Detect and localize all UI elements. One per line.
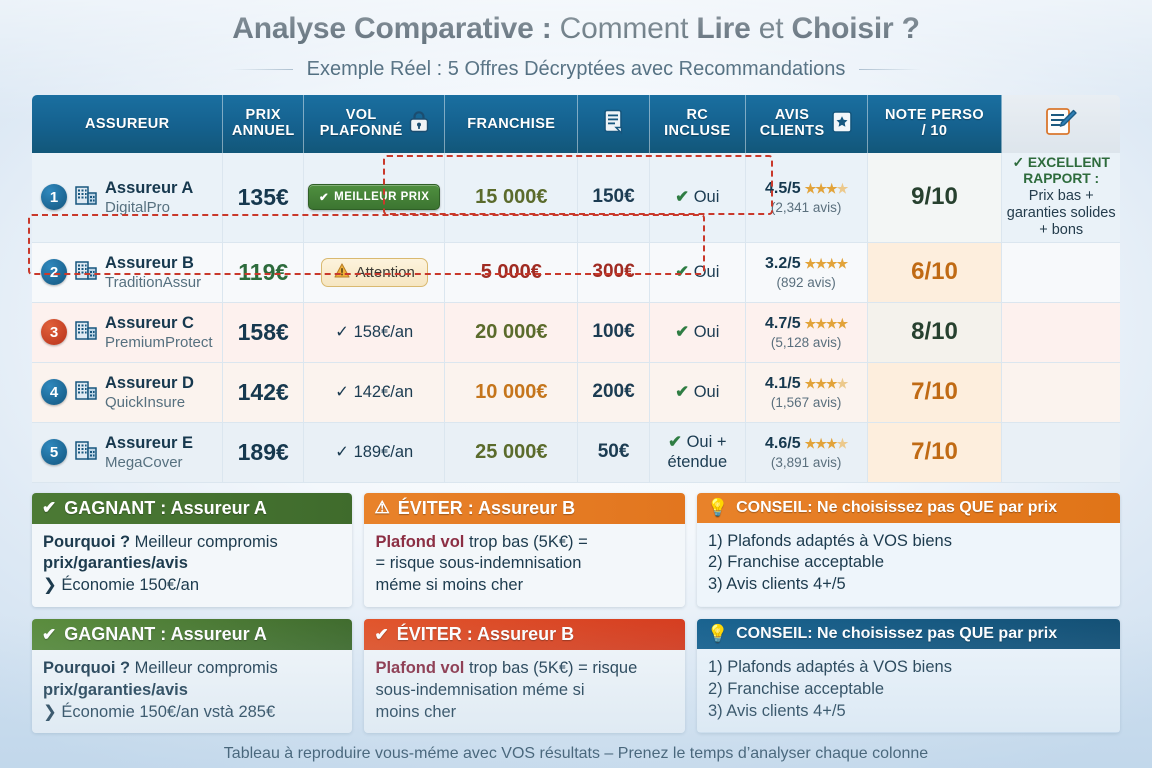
cell-doc: 150€ <box>578 153 650 243</box>
avis-score: 4.5/5 <box>765 180 801 198</box>
insurer-brand: DigitalPro <box>105 199 170 216</box>
card-list-item: 3) Avis clients 4+/5 <box>708 701 1109 723</box>
col-header-rc[interactable]: RCINCLUSE <box>650 95 746 153</box>
card-line1-rest: Meilleur compromis <box>130 533 278 551</box>
col-label-avis-1: AVIS <box>760 108 825 124</box>
building-icon <box>74 318 98 347</box>
title-bold-choisir: Choisir ? <box>792 12 920 45</box>
cell-doc: 200€ <box>578 363 650 423</box>
cell-note: 9/10 <box>868 153 1003 243</box>
recommendation-cards-row-1: ✔ GAGNANT : Assureur A Pourquoi ? Meille… <box>32 493 1120 607</box>
building-icon <box>74 183 98 212</box>
card-title: CONSEIL: Ne choisissez pas QUE par prix <box>736 625 1057 643</box>
card-line1-bold: Plafond vol <box>375 659 464 677</box>
cell-perso-note[interactable]: ✓ EXCELLENT RAPPORT : Prix bas + garanti… <box>1002 153 1120 243</box>
card-line1-bold: Pourquoi ? <box>43 659 130 677</box>
cell-franchise: 20 000€ <box>445 303 578 363</box>
check-icon: ✔ <box>675 383 689 401</box>
card-line2: sous-indemnisation méme si <box>375 680 673 702</box>
avis-score: 3.2/5 <box>765 255 801 273</box>
price-value: 135€ <box>238 184 289 210</box>
check-icon: ✔ <box>42 625 56 645</box>
cell-franchise: 15 000€ <box>445 153 578 243</box>
page-title: Analyse Comparative : Comment Lire et Ch… <box>0 12 1152 46</box>
title-part-1: Analyse Comparative <box>232 12 533 45</box>
building-icon <box>74 378 98 407</box>
bulb-icon: 💡 <box>707 624 728 644</box>
note-value: 7/10 <box>911 438 958 465</box>
cell-doc: 300€ <box>578 243 650 303</box>
card-line1-rest: trop bas (5K€) = <box>464 533 587 551</box>
card-gagnant-1[interactable]: ✔ GAGNANT : Assureur A Pourquoi ? Meille… <box>32 493 352 607</box>
note-value: 6/10 <box>911 258 958 285</box>
footer-note: Tableau à reproduire vous-méme avec VOS … <box>0 745 1152 763</box>
cell-perso-note[interactable] <box>1002 243 1120 303</box>
building-icon <box>74 438 98 467</box>
col-header-note-perso[interactable]: NOTE PERSO/ 10 <box>868 95 1003 153</box>
vol-value: ✓ 189€/an <box>335 443 413 461</box>
cell-rc: ✔ Oui <box>650 363 746 423</box>
col-label-assureur: ASSUREUR <box>85 116 170 132</box>
col-label-avis-2: CLIENTS <box>760 124 825 140</box>
title-mid: et <box>751 12 792 45</box>
doc-value: 150€ <box>592 186 634 207</box>
cell-avis: 4.5/5★★★★ (2,341 avis) <box>746 153 868 243</box>
rc-value: ✔ Oui <box>675 188 719 206</box>
col-label-rc-1: RC <box>652 108 743 124</box>
table-header-row: ASSUREUR PRIXANNUEL VOLPLAFONNÉ FRANCHIS… <box>32 95 1120 153</box>
cell-franchise: 5 000€ <box>445 243 578 303</box>
insurer-brand: TraditionAssur <box>105 274 201 291</box>
franchise-value: 25 000€ <box>475 441 547 463</box>
best-price-label: MEILLEUR PRIX <box>334 191 429 203</box>
price-value: 158€ <box>238 319 289 345</box>
building-icon <box>74 258 98 287</box>
card-line2: = risque sous-indemnisation <box>375 553 673 575</box>
card-line3: ❯ Économie 150€/an <box>43 575 341 597</box>
cell-vol: ✓ 142€/an <box>304 363 445 423</box>
col-label-prix-2: ANNUEL <box>225 124 301 140</box>
title-colon: : <box>534 12 560 45</box>
stars-icon: ★★★★ <box>805 316 848 332</box>
rank-badge: 5 <box>41 439 67 465</box>
best-price-badge: ✔MEILLEUR PRIX <box>308 184 440 210</box>
check-icon: ✔ <box>42 498 56 518</box>
table-row[interactable]: 5 Assureur E MegaCover 189€ ✓ 189€/an 25… <box>32 423 1120 483</box>
title-part-2: Comment <box>560 12 697 45</box>
warning-icon: ⚠ <box>374 498 389 518</box>
cell-vol: ✔MEILLEUR PRIX <box>304 153 445 243</box>
cell-price: 135€ <box>223 153 304 243</box>
subtitle-wrap: Exemple Réel : 5 Offres Décryptées avec … <box>0 58 1152 81</box>
col-header-edit[interactable] <box>1002 95 1120 153</box>
check-icon: ✔ <box>374 625 388 645</box>
stars-icon: ★★★★ <box>805 436 848 452</box>
vol-value: ✓ 142€/an <box>335 383 413 401</box>
cell-vol: Attention <box>304 243 445 303</box>
rank-badge: 2 <box>41 259 67 285</box>
card-list-item: 3) Avis clients 4+/5 <box>708 574 1109 596</box>
note-value: 9/10 <box>911 183 958 210</box>
cell-price: 119€ <box>223 243 304 303</box>
card-header: ✔ GAGNANT : Assureur A <box>32 619 352 650</box>
card-line1-rest: trop bas (5K€) = risque <box>464 659 637 677</box>
col-label-note-1: NOTE PERSO <box>870 108 1000 124</box>
check-icon: ✔ <box>675 323 689 341</box>
cell-price: 142€ <box>223 363 304 423</box>
cell-assureur: 3 Assureur C PremiumProtect <box>32 303 223 363</box>
card-header: ⚠ ÉVITER : Assureur B <box>364 493 684 524</box>
cell-assureur: 2 Assureur B TraditionAssur <box>32 243 223 303</box>
cell-avis: 4.1/5★★★★ (1,567 avis) <box>746 363 868 423</box>
avis-count: (1,567 avis) <box>749 395 864 410</box>
col-header-document[interactable] <box>578 95 650 153</box>
avis-score: 4.6/5 <box>765 435 801 453</box>
cell-assureur: 1 Assureur A DigitalPro <box>32 153 223 243</box>
cell-doc: 100€ <box>578 303 650 363</box>
table-row[interactable]: 1 Assureur A DigitalPro 135€ ✔MEILLEUR P… <box>32 153 1120 243</box>
cell-note: 8/10 <box>868 303 1003 363</box>
card-title: GAGNANT : Assureur A <box>64 624 267 645</box>
card-list-item: 1) Plafonds adaptés à VOS biens <box>708 531 1109 553</box>
card-gagnant-2[interactable]: ✔ GAGNANT : Assureur A Pourquoi ? Meille… <box>32 619 352 733</box>
franchise-value: 10 000€ <box>475 381 547 403</box>
card-eviter-1[interactable]: ⚠ ÉVITER : Assureur B Plafond vol trop b… <box>364 493 684 607</box>
check-icon: ✔ <box>675 188 689 206</box>
card-body: Pourquoi ? Meilleur compromis prix/garan… <box>32 650 352 733</box>
franchise-value: 20 000€ <box>475 321 547 343</box>
page-subtitle: Exemple Réel : 5 Offres Décryptées avec … <box>307 58 846 81</box>
doc-value: 100€ <box>592 321 634 342</box>
card-header: ✔ ÉVITER : Assureur B <box>364 619 684 650</box>
rank-badge: 3 <box>41 319 67 345</box>
table-row[interactable]: 4 Assureur D QuickInsure 142€ ✓ 142€/an … <box>32 363 1120 423</box>
stars-icon: ★★★★ <box>805 376 848 392</box>
perso-note-head: ✓ EXCELLENT RAPPORT : <box>1005 155 1117 188</box>
star-badge-icon <box>831 110 853 138</box>
note-value: 8/10 <box>911 318 958 345</box>
table-row[interactable]: 3 Assureur C PremiumProtect 158€ ✓ 158€/… <box>32 303 1120 363</box>
card-header: ✔ GAGNANT : Assureur A <box>32 493 352 524</box>
document-icon <box>603 123 625 139</box>
franchise-value: 15 000€ <box>475 186 547 208</box>
cell-assureur: 4 Assureur D QuickInsure <box>32 363 223 423</box>
insurer-brand: PremiumProtect <box>105 334 213 351</box>
subtitle-rule-right <box>859 69 921 70</box>
note-value: 7/10 <box>911 378 958 405</box>
insurer-name: Assureur A <box>105 179 193 197</box>
avis-score: 4.1/5 <box>765 375 801 393</box>
card-body: Plafond vol trop bas (5K€) = risque sous… <box>364 650 684 733</box>
rc-value: ✔ Oui <box>675 263 719 281</box>
cell-rc: ✔ Oui <box>650 243 746 303</box>
col-header-vol[interactable]: VOLPLAFONNÉ <box>304 95 445 153</box>
card-line3: ❯ Économie 150€/an vstà 285€ <box>43 702 341 724</box>
recommendation-cards-row-2: ✔ GAGNANT : Assureur A Pourquoi ? Meille… <box>32 619 1120 733</box>
insurer-name: Assureur D <box>105 374 194 392</box>
cell-perso-note[interactable] <box>1002 363 1120 423</box>
page-header: Analyse Comparative : Comment Lire et Ch… <box>0 0 1152 81</box>
insurer-name: Assureur C <box>105 314 194 332</box>
insurer-name: Assureur B <box>105 254 194 272</box>
rc-value: ✔ Oui + étendue <box>667 433 727 471</box>
cell-price: 158€ <box>223 303 304 363</box>
cell-doc: 50€ <box>578 423 650 483</box>
col-header-assureur[interactable]: ASSUREUR <box>32 95 223 153</box>
card-list-item: 2) Franchise acceptable <box>708 679 1109 701</box>
attention-label: Attention <box>356 264 415 281</box>
col-label-prix-1: PRIX <box>225 108 301 124</box>
card-header: 💡 CONSEIL: Ne choisissez pas QUE par pri… <box>697 619 1120 649</box>
perso-note-body: Prix bas + garanties solides + bons <box>1005 188 1117 240</box>
col-label-vol-2: PLAFONNÉ <box>320 124 403 140</box>
card-header: 💡 CONSEIL: Ne choisissez pas QUE par pri… <box>697 493 1120 523</box>
avis-count: (2,341 avis) <box>749 200 864 215</box>
col-header-avis[interactable]: AVISCLIENTS <box>746 95 868 153</box>
table-row[interactable]: 2 Assureur B TraditionAssur 119€ Attenti… <box>32 243 1120 303</box>
attention-badge: Attention <box>321 258 428 287</box>
col-header-prix[interactable]: PRIXANNUEL <box>223 95 304 153</box>
card-title: ÉVITER : Assureur B <box>397 624 574 645</box>
cell-perso-note[interactable] <box>1002 303 1120 363</box>
check-icon: ✔ <box>675 263 689 281</box>
avis-count: (5,128 avis) <box>749 335 864 350</box>
cell-rc: ✔ Oui <box>650 153 746 243</box>
card-eviter-2[interactable]: ✔ ÉVITER : Assureur B Plafond vol trop b… <box>364 619 684 733</box>
cell-note: 7/10 <box>868 423 1003 483</box>
card-line3: méme si moins cher <box>375 575 673 597</box>
insurer-brand: MegaCover <box>105 454 183 471</box>
check-icon: ✔ <box>668 433 682 451</box>
warning-icon <box>334 263 350 282</box>
doc-value: 50€ <box>598 441 630 462</box>
avis-score: 4.7/5 <box>765 315 801 333</box>
vol-value: ✓ 158€/an <box>335 323 413 341</box>
doc-value: 300€ <box>592 261 634 282</box>
col-label-franchise: FRANCHISE <box>467 116 555 132</box>
card-line3: moins cher <box>375 702 673 724</box>
cell-vol: ✓ 158€/an <box>304 303 445 363</box>
card-title: CONSEIL: Ne choisissez pas QUE par prix <box>736 499 1057 517</box>
cell-franchise: 10 000€ <box>445 363 578 423</box>
rank-badge: 1 <box>41 184 67 210</box>
title-bold-lire: Lire <box>696 12 750 45</box>
price-value: 119€ <box>238 259 288 285</box>
comparison-table-wrap: ASSUREUR PRIXANNUEL VOLPLAFONNÉ FRANCHIS… <box>32 95 1120 483</box>
col-header-franchise[interactable]: FRANCHISE <box>445 95 578 153</box>
card-conseil-1[interactable]: 💡 CONSEIL: Ne choisissez pas QUE par pri… <box>697 493 1120 607</box>
subtitle-rule-left <box>231 69 293 70</box>
cell-rc: ✔ Oui + étendue <box>650 423 746 483</box>
card-body: 1) Plafonds adaptés à VOS biens 2) Franc… <box>697 649 1120 732</box>
stars-icon: ★★★★ <box>805 181 848 197</box>
franchise-value: 5 000€ <box>481 261 542 283</box>
card-body: Pourquoi ? Meilleur compromis prix/garan… <box>32 524 352 607</box>
cell-assureur: 5 Assureur E MegaCover <box>32 423 223 483</box>
cell-avis: 4.6/5★★★★ (3,891 avis) <box>746 423 868 483</box>
cell-note: 7/10 <box>868 363 1003 423</box>
col-label-rc-2: INCLUSE <box>652 124 743 140</box>
rank-badge: 4 <box>41 379 67 405</box>
card-list-item: 2) Franchise acceptable <box>708 552 1109 574</box>
card-line2: prix/garanties/avis <box>43 554 188 572</box>
insurer-name: Assureur E <box>105 434 193 452</box>
card-line1-bold: Pourquoi ? <box>43 533 130 551</box>
avis-count: (3,891 avis) <box>749 455 864 470</box>
avis-count: (892 avis) <box>749 275 864 290</box>
cell-price: 189€ <box>223 423 304 483</box>
card-conseil-2[interactable]: 💡 CONSEIL: Ne choisissez pas QUE par pri… <box>697 619 1120 733</box>
cell-perso-note[interactable] <box>1002 423 1120 483</box>
cell-vol: ✓ 189€/an <box>304 423 445 483</box>
card-line1-bold: Plafond vol <box>375 533 464 551</box>
check-icon: ✔ <box>319 190 329 204</box>
insurer-brand: QuickInsure <box>105 394 185 411</box>
doc-value: 200€ <box>592 381 634 402</box>
cell-avis: 4.7/5★★★★ (5,128 avis) <box>746 303 868 363</box>
price-value: 142€ <box>238 379 289 405</box>
col-label-vol-1: VOL <box>320 108 403 124</box>
col-label-note-2: / 10 <box>870 124 1000 140</box>
rc-value: ✔ Oui <box>675 323 719 341</box>
card-line1-rest: Meilleur compromis <box>130 659 278 677</box>
cell-franchise: 25 000€ <box>445 423 578 483</box>
lock-icon <box>409 111 429 137</box>
card-title: ÉVITER : Assureur B <box>398 498 575 519</box>
rc-value: ✔ Oui <box>675 383 719 401</box>
card-list-item: 1) Plafonds adaptés à VOS biens <box>708 657 1109 679</box>
card-body: Plafond vol trop bas (5K€) = = risque so… <box>364 524 684 607</box>
edit-note-icon <box>1044 126 1078 142</box>
cell-note: 6/10 <box>868 243 1003 303</box>
comparison-table: ASSUREUR PRIXANNUEL VOLPLAFONNÉ FRANCHIS… <box>32 95 1120 483</box>
cell-rc: ✔ Oui <box>650 303 746 363</box>
card-line2: prix/garanties/avis <box>43 681 188 699</box>
cell-avis: 3.2/5★★★★ (892 avis) <box>746 243 868 303</box>
card-body: 1) Plafonds adaptés à VOS biens 2) Franc… <box>697 523 1120 606</box>
bulb-icon: 💡 <box>707 498 728 518</box>
price-value: 189€ <box>238 439 289 465</box>
stars-icon: ★★★★ <box>805 256 848 272</box>
card-title: GAGNANT : Assureur A <box>64 498 267 519</box>
